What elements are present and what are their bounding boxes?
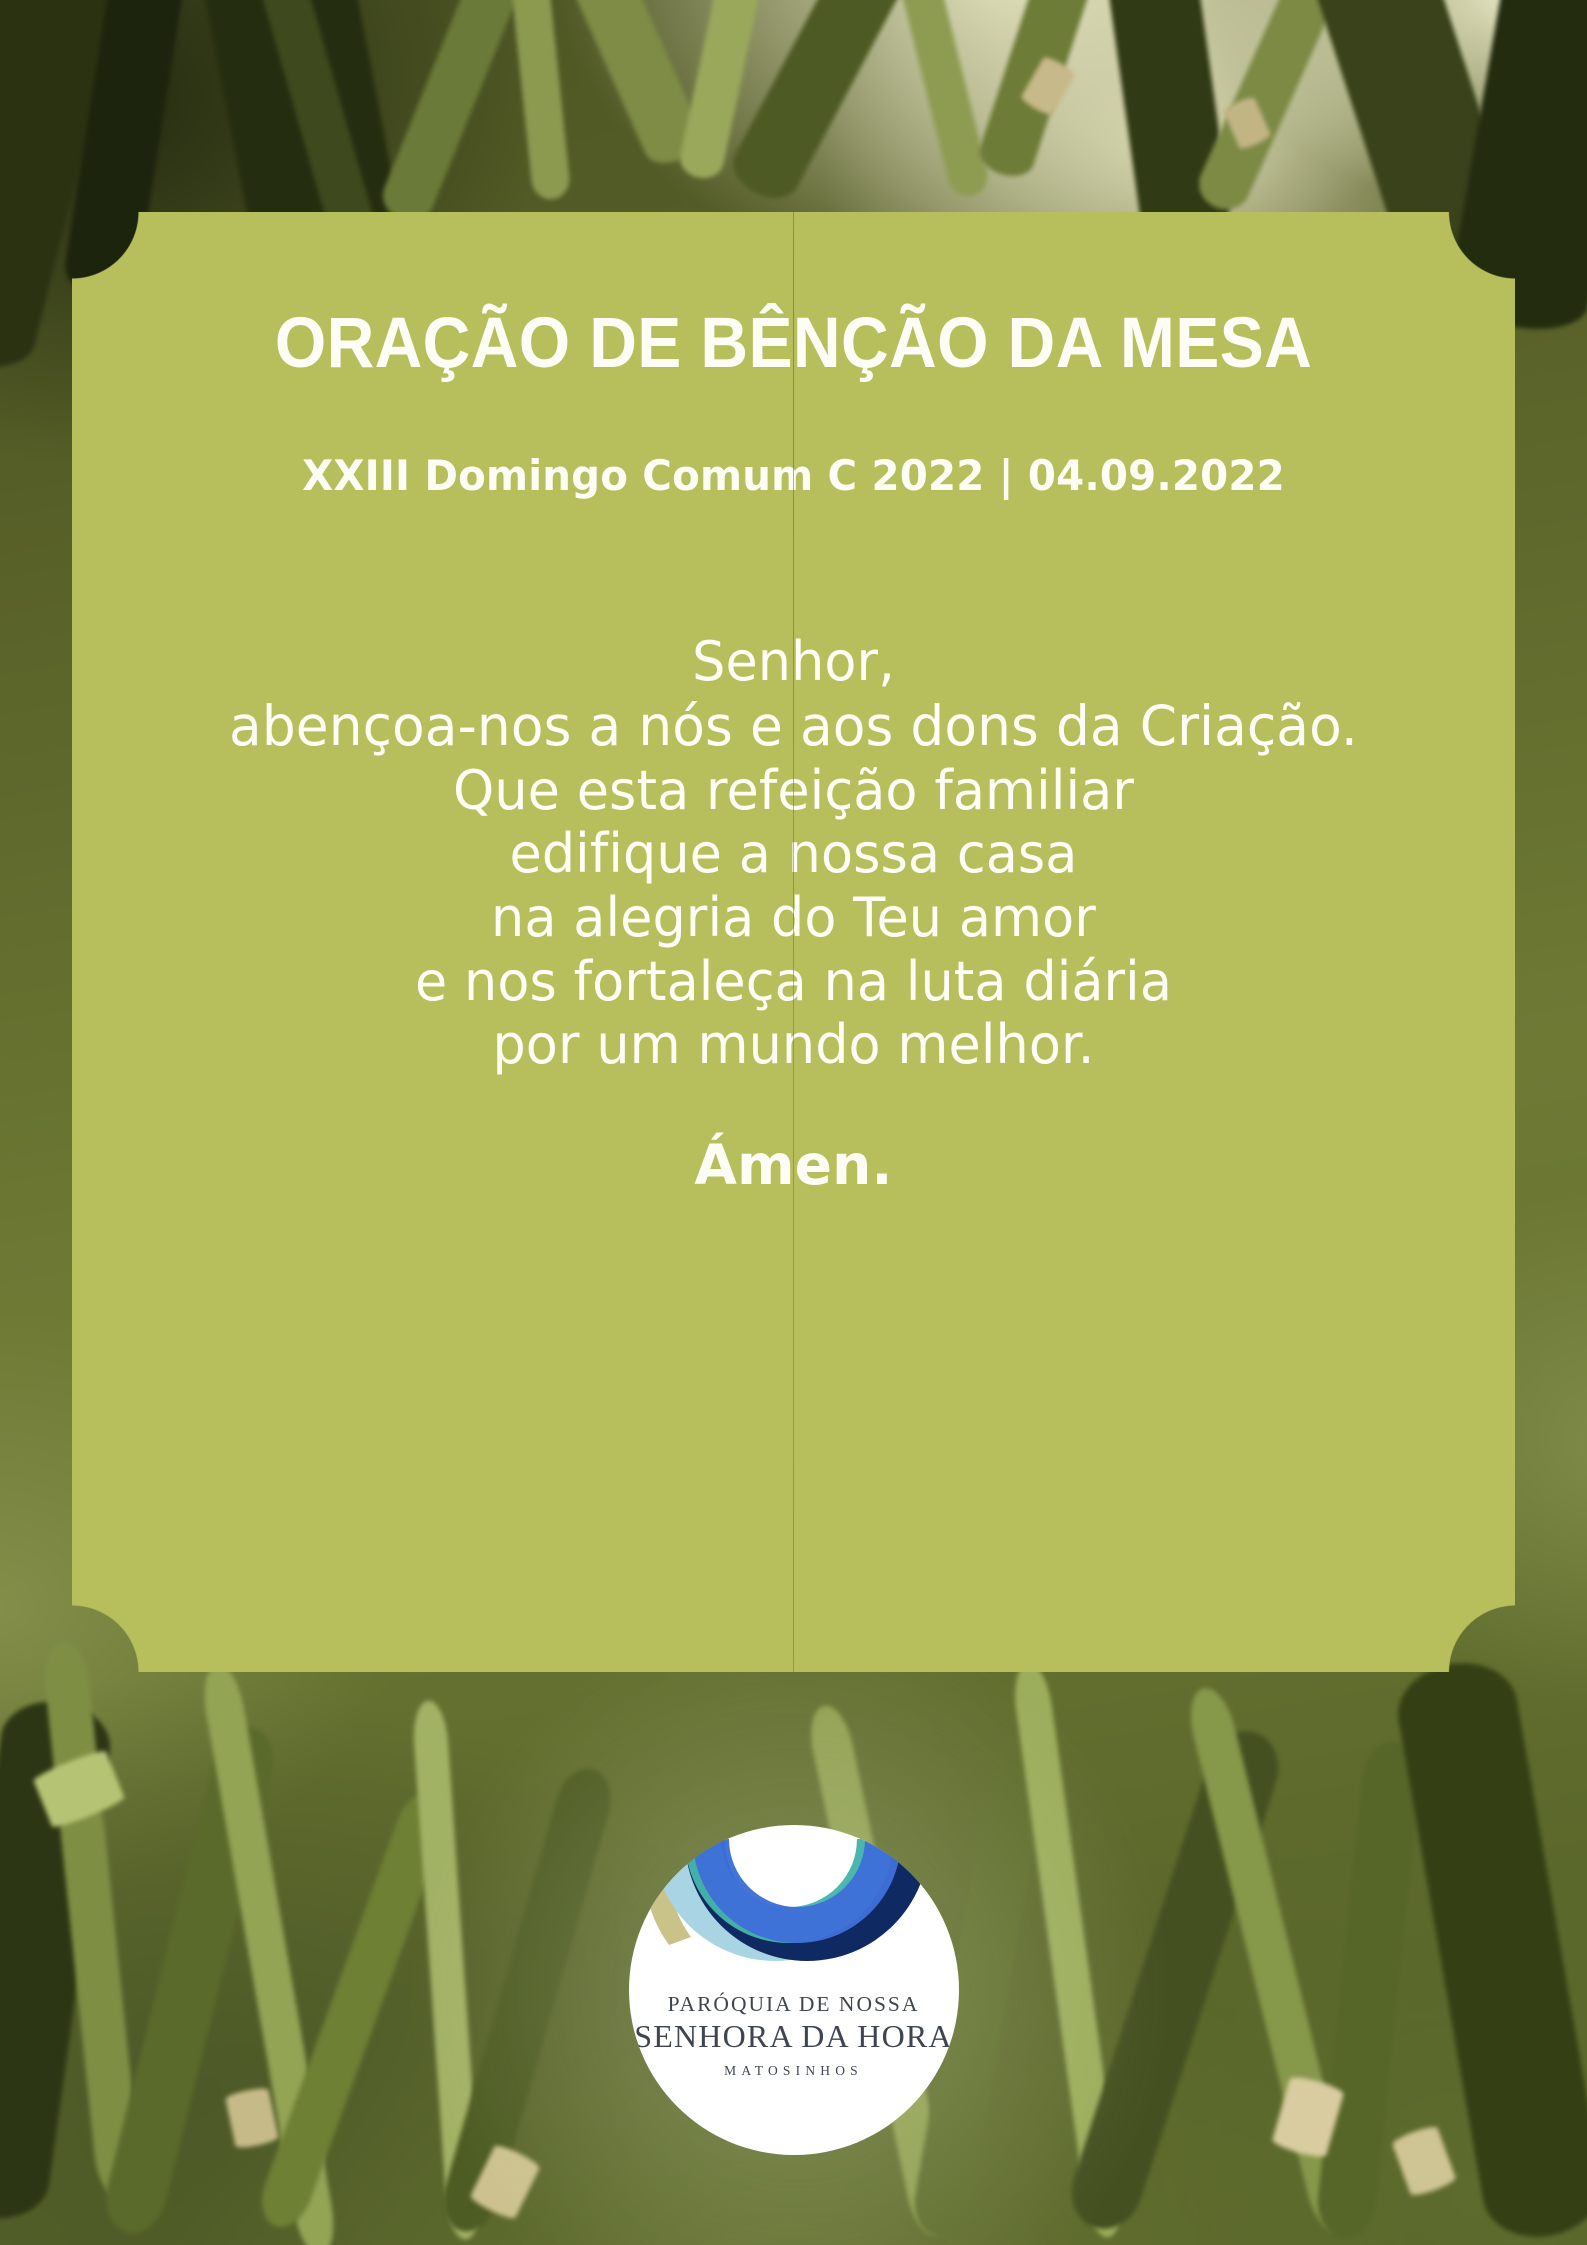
prayer-line: abençoa-nos a nós e aos dons da Criação.	[94, 694, 1494, 759]
logo-line-3: MATOSINHOS	[629, 2063, 959, 2079]
logo-wordmark: PARÓQUIA DE NOSSA SENHORA DA HORA MATOSI…	[629, 1993, 959, 2079]
prayer-amen: Ámen.	[72, 1133, 1515, 1197]
logo-arc-mark	[629, 1825, 959, 2155]
prayer-line: edifique a nossa casa	[94, 822, 1494, 886]
page-title: ORAÇÃO DE BÊNÇÃO DA MESA	[123, 308, 1465, 379]
prayer-body: Senhor, abençoa-nos a nós e aos dons da …	[94, 630, 1494, 1077]
prayer-line: e nos fortaleça na luta diária	[94, 950, 1494, 1014]
prayer-card: ORAÇÃO DE BÊNÇÃO DA MESA XXIII Domingo C…	[72, 212, 1515, 1672]
poster: ORAÇÃO DE BÊNÇÃO DA MESA XXIII Domingo C…	[0, 0, 1587, 2245]
parish-logo: PARÓQUIA DE NOSSA SENHORA DA HORA MATOSI…	[629, 1825, 959, 2155]
liturgical-subtitle: XXIII Domingo Comum C 2022 | 04.09.2022	[101, 451, 1486, 500]
prayer-line: Senhor,	[94, 630, 1494, 694]
prayer-line: por um mundo melhor.	[94, 1013, 1494, 1077]
prayer-line: na alegria do Teu amor	[94, 886, 1494, 950]
prayer-line: Que esta refeição familiar	[94, 759, 1494, 823]
logo-line-1: PARÓQUIA DE NOSSA	[629, 1993, 959, 2017]
logo-line-2: SENHORA DA HORA	[629, 2019, 959, 2055]
